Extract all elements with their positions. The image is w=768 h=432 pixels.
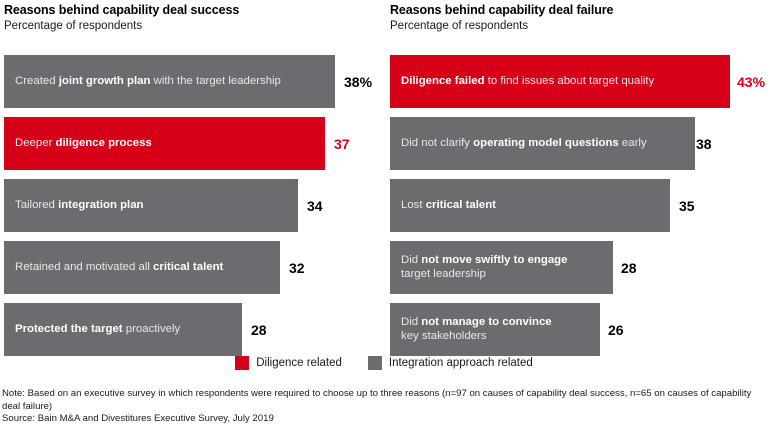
bar-value-label: 38	[696, 117, 712, 170]
bar-row[interactable]: Protected the target proactively28	[4, 303, 382, 356]
bar-label: Tailored integration plan	[4, 199, 148, 213]
footnote-note: Note: Based on an executive survey in wh…	[2, 388, 764, 413]
chart-legend: Diligence relatedIntegration approach re…	[0, 356, 768, 370]
page-title-left: Reasons behind capability deal success	[4, 3, 382, 18]
bar-row[interactable]: Diligence failed to find issues about ta…	[390, 55, 768, 108]
bar-label: Did not manage to convincekey stakeholde…	[390, 316, 556, 343]
page-title-right: Reasons behind capability deal failure	[390, 3, 768, 18]
bar-label: Diligence failed to find issues about ta…	[390, 75, 658, 89]
legend-label: Integration approach related	[389, 356, 533, 370]
bar-value-label: 28	[251, 303, 267, 356]
bar-row[interactable]: Did not move swiftly to engagetarget lea…	[390, 241, 768, 294]
bar-diligence[interactable]: Deeper diligence process	[4, 117, 325, 170]
legend-swatch-icon	[368, 356, 382, 370]
bar-diligence[interactable]: Diligence failed to find issues about ta…	[390, 55, 730, 108]
bar-integration[interactable]: Did not move swiftly to engagetarget lea…	[390, 241, 613, 294]
bar-label: Did not move swiftly to engagetarget lea…	[390, 254, 571, 281]
bar-group-right: Diligence failed to find issues about ta…	[390, 55, 768, 365]
bar-row[interactable]: Retained and motivated all critical tale…	[4, 241, 382, 294]
legend-label: Diligence related	[256, 356, 342, 370]
panel-deal-failure: Reasons behind capability deal failure P…	[390, 0, 768, 34]
legend-item-integration[interactable]: Integration approach related	[368, 356, 533, 370]
bar-value-label: 34	[307, 179, 323, 232]
panel-subtitle-right: Percentage of respondents	[390, 19, 768, 34]
footnote-source: Source: Bain M&A and Divestitures Execut…	[2, 413, 764, 426]
legend-item-diligence[interactable]: Diligence related	[235, 356, 342, 370]
chart-page: Reasons behind capability deal success P…	[0, 0, 768, 432]
bar-label: Lost critical talent	[390, 199, 500, 213]
bar-value-label: 35	[679, 179, 695, 232]
bar-value-label: 28	[621, 241, 637, 294]
bar-value-label: 43%	[737, 55, 765, 108]
bar-integration[interactable]: Did not clarify operating model question…	[390, 117, 695, 170]
bar-value-label: 26	[608, 303, 624, 356]
bar-label: Deeper diligence process	[4, 137, 156, 151]
bar-label: Did not clarify operating model question…	[390, 137, 651, 151]
bar-integration[interactable]: Tailored integration plan	[4, 179, 298, 232]
bar-label: Created joint growth plan with the targe…	[4, 75, 285, 89]
bar-row[interactable]: Deeper diligence process37	[4, 117, 382, 170]
bar-row[interactable]: Did not manage to convincekey stakeholde…	[390, 303, 768, 356]
bar-integration[interactable]: Protected the target proactively	[4, 303, 242, 356]
bar-label: Retained and motivated all critical tale…	[4, 261, 227, 275]
footnotes: Note: Based on an executive survey in wh…	[2, 388, 764, 426]
bar-integration[interactable]: Created joint growth plan with the targe…	[4, 55, 335, 108]
bar-value-label: 32	[289, 241, 305, 294]
bar-row[interactable]: Tailored integration plan34	[4, 179, 382, 232]
bar-label: Protected the target proactively	[4, 323, 184, 337]
bar-integration[interactable]: Retained and motivated all critical tale…	[4, 241, 280, 294]
panel-deal-success: Reasons behind capability deal success P…	[4, 0, 382, 34]
bar-integration[interactable]: Did not manage to convincekey stakeholde…	[390, 303, 600, 356]
bar-row[interactable]: Created joint growth plan with the targe…	[4, 55, 382, 108]
bar-row[interactable]: Lost critical talent35	[390, 179, 768, 232]
legend-swatch-icon	[235, 356, 249, 370]
bar-integration[interactable]: Lost critical talent	[390, 179, 670, 232]
bar-group-left: Created joint growth plan with the targe…	[4, 55, 382, 365]
bar-row[interactable]: Did not clarify operating model question…	[390, 117, 768, 170]
bar-value-label: 37	[334, 117, 350, 170]
panel-subtitle-left: Percentage of respondents	[4, 19, 382, 34]
bar-value-label: 38%	[344, 55, 372, 108]
